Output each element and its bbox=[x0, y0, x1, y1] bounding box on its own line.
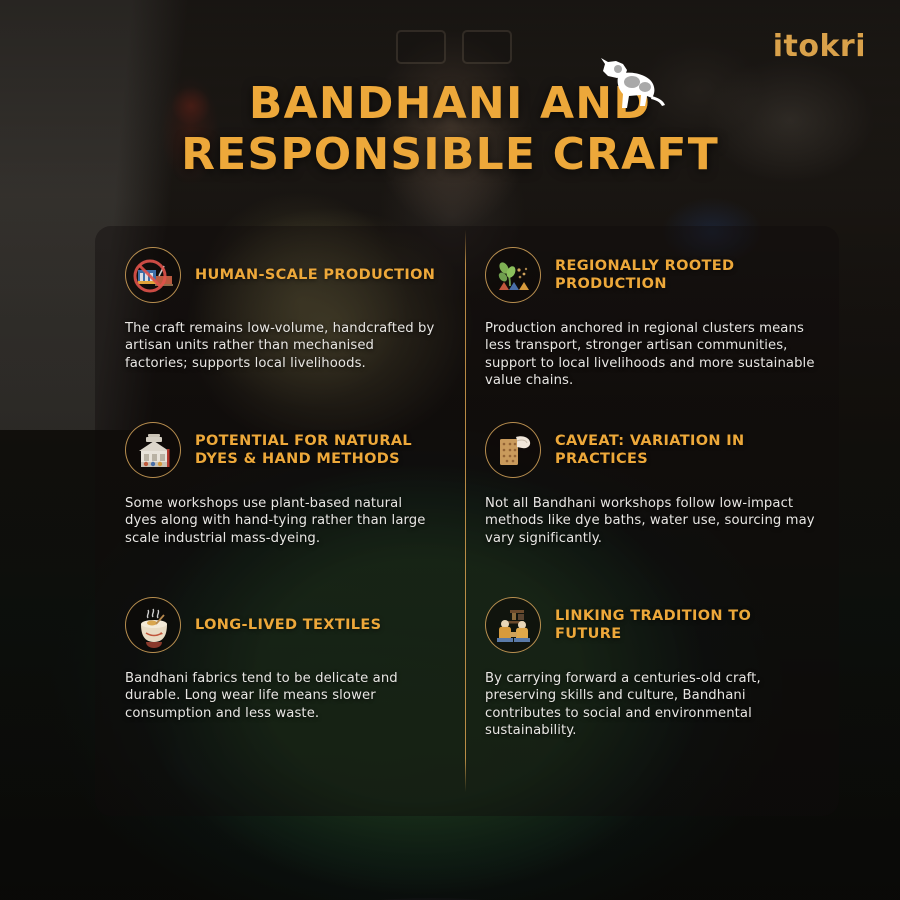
hand-holding-fabric-icon bbox=[485, 422, 541, 478]
card-title: LINKING TRADITION TO FUTURE bbox=[555, 607, 815, 643]
card-body: Production anchored in regional clusters… bbox=[485, 320, 815, 390]
card-header: HUMAN-SCALE PRODUCTION bbox=[125, 246, 437, 304]
cow-illustration-icon bbox=[575, 56, 667, 118]
card-title: CAVEAT: VARIATION IN PRACTICES bbox=[555, 432, 815, 468]
plant-dye-powders-icon bbox=[485, 247, 541, 303]
card-body: By carrying forward a centuries-old craf… bbox=[485, 670, 815, 740]
steaming-dye-pot-icon bbox=[125, 597, 181, 653]
card-title: LONG-LIVED TEXTILES bbox=[195, 616, 381, 634]
card-body: The craft remains low-volume, handcrafte… bbox=[125, 320, 437, 372]
two-artisans-icon bbox=[485, 597, 541, 653]
card-regionally-rooted-production: REGIONALLY ROOTED PRODUCTION Production … bbox=[465, 226, 839, 401]
card-natural-dyes-hand-methods: POTENTIAL FOR NATURAL DYES & HAND METHOD… bbox=[95, 401, 465, 576]
card-title: REGIONALLY ROOTED PRODUCTION bbox=[555, 257, 815, 293]
card-header: POTENTIAL FOR NATURAL DYES & HAND METHOD… bbox=[125, 421, 437, 479]
cards-grid: HUMAN-SCALE PRODUCTION The craft remains… bbox=[95, 226, 839, 816]
page-title: BANDHANI AND RESPONSIBLE CRAFT bbox=[0, 78, 900, 180]
card-body: Not all Bandhani workshops follow low-im… bbox=[485, 495, 815, 547]
card-long-lived-textiles: LONG-LIVED TEXTILES Bandhani fabrics ten… bbox=[95, 576, 465, 816]
card-human-scale-production: HUMAN-SCALE PRODUCTION The craft remains… bbox=[95, 226, 465, 401]
card-header: REGIONALLY ROOTED PRODUCTION bbox=[485, 246, 815, 304]
itokri-logo: itokri bbox=[773, 32, 866, 62]
card-header: LONG-LIVED TEXTILES bbox=[125, 596, 437, 654]
card-title: POTENTIAL FOR NATURAL DYES & HAND METHOD… bbox=[195, 432, 437, 468]
card-title: HUMAN-SCALE PRODUCTION bbox=[195, 266, 435, 284]
card-caveat-variation: CAVEAT: VARIATION IN PRACTICES Not all B… bbox=[465, 401, 839, 576]
page-title-line-2: RESPONSIBLE CRAFT bbox=[0, 129, 900, 180]
card-linking-tradition-to-future: LINKING TRADITION TO FUTURE By carrying … bbox=[465, 576, 839, 816]
card-header: LINKING TRADITION TO FUTURE bbox=[485, 596, 815, 654]
workshop-building-icon bbox=[125, 422, 181, 478]
content-panel: HUMAN-SCALE PRODUCTION The craft remains… bbox=[95, 226, 839, 816]
card-body: Some workshops use plant-based natural d… bbox=[125, 495, 437, 547]
card-body: Bandhani fabrics tend to be delicate and… bbox=[125, 670, 437, 722]
card-header: CAVEAT: VARIATION IN PRACTICES bbox=[485, 421, 815, 479]
no-factory-icon bbox=[125, 247, 181, 303]
